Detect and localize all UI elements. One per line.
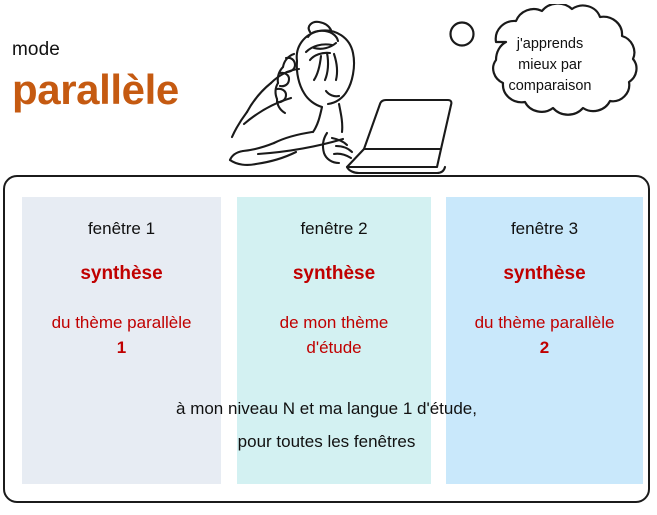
window-column-1: fenêtre 1 synthèse du thème parallèle 1 [22, 197, 221, 484]
description-line-2-col-3: 2 [540, 338, 549, 357]
window-column-2: fenêtre 2 synthèse de mon thème d'étude [237, 197, 431, 484]
thought-bubble-line-1: j'apprends [517, 36, 583, 52]
description-line-2-col-2: d'étude [306, 338, 361, 357]
thought-bubble-text: j'apprends mieux par comparaison [444, 34, 656, 97]
window-label-3: fenêtre 3 [446, 219, 643, 239]
thought-bubble: j'apprends mieux par comparaison [444, 4, 656, 140]
window-columns: fenêtre 1 synthèse du thème parallèle 1 … [5, 177, 648, 501]
thought-bubble-line-2: mieux par [518, 57, 582, 73]
synthese-heading-1: synthèse [22, 263, 221, 285]
synthese-description-3: du thème parallèle 2 [446, 310, 643, 360]
header: mode parallèle [0, 0, 657, 175]
window-label-2: fenêtre 2 [237, 219, 431, 239]
window-column-3: fenêtre 3 synthèse du thème parallèle 2 [446, 197, 643, 484]
synthese-heading-2: synthèse [237, 263, 431, 285]
page-title: parallèle [12, 69, 179, 111]
window-label-1: fenêtre 1 [22, 219, 221, 239]
description-line-1-col-3: du thème parallèle [475, 313, 615, 332]
description-line-2-col-1: 1 [117, 338, 126, 357]
description-line-1-col-1: du thème parallèle [52, 313, 192, 332]
person-thinking-at-laptop-illustration [214, 6, 454, 178]
synthese-description-1: du thème parallèle 1 [22, 310, 221, 360]
synthese-heading-3: synthèse [446, 263, 643, 285]
thought-bubble-line-3: comparaison [508, 78, 591, 94]
synthese-description-2: de mon thème d'étude [237, 310, 431, 360]
mode-label: mode [12, 39, 60, 61]
description-line-1-col-2: de mon thème [280, 313, 389, 332]
parallel-mode-panel: fenêtre 1 synthèse du thème parallèle 1 … [3, 175, 650, 503]
